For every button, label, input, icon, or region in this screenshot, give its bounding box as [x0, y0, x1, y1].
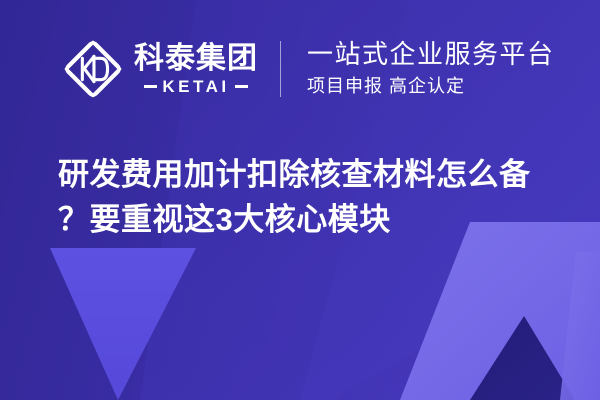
bg-wedge-right-light	[400, 222, 600, 400]
logo-english-name: KETAI	[157, 78, 234, 95]
bg-notch-dark	[470, 316, 575, 400]
vertical-divider-icon	[280, 41, 281, 97]
promo-banner: 科泰集团 KETAI 一站式企业服务平台 项目申报 高企认定 研发费用加计扣除核…	[0, 0, 600, 400]
banner-header: 科泰集团 KETAI 一站式企业服务平台 项目申报 高企认定	[62, 38, 555, 100]
headline-block: 研发费用加计扣除核查材料怎么备 ？要重视这3大核心模块	[58, 152, 578, 243]
tagline-main: 一站式企业服务平台	[307, 39, 555, 70]
headline-line-2: ？要重视这3大核心模块	[58, 197, 578, 242]
bg-column-right	[560, 252, 600, 400]
tagline-block: 一站式企业服务平台 项目申报 高企认定	[307, 39, 555, 98]
logo-dash-right-icon	[235, 85, 248, 88]
ketai-logo[interactable]: 科泰集团 KETAI	[62, 38, 258, 100]
bg-triangle-left-v	[50, 248, 196, 400]
ketai-diamond-k-logo-icon	[62, 38, 124, 100]
logo-english-row: KETAI	[134, 78, 258, 95]
ketai-wordmark: 科泰集团 KETAI	[134, 43, 258, 95]
tagline-sub: 项目申报 高企认定	[307, 75, 555, 98]
headline-line-1: 研发费用加计扣除核查材料怎么备	[58, 152, 578, 197]
logo-dash-left-icon	[144, 85, 157, 88]
logo-chinese-name: 科泰集团	[134, 43, 258, 75]
